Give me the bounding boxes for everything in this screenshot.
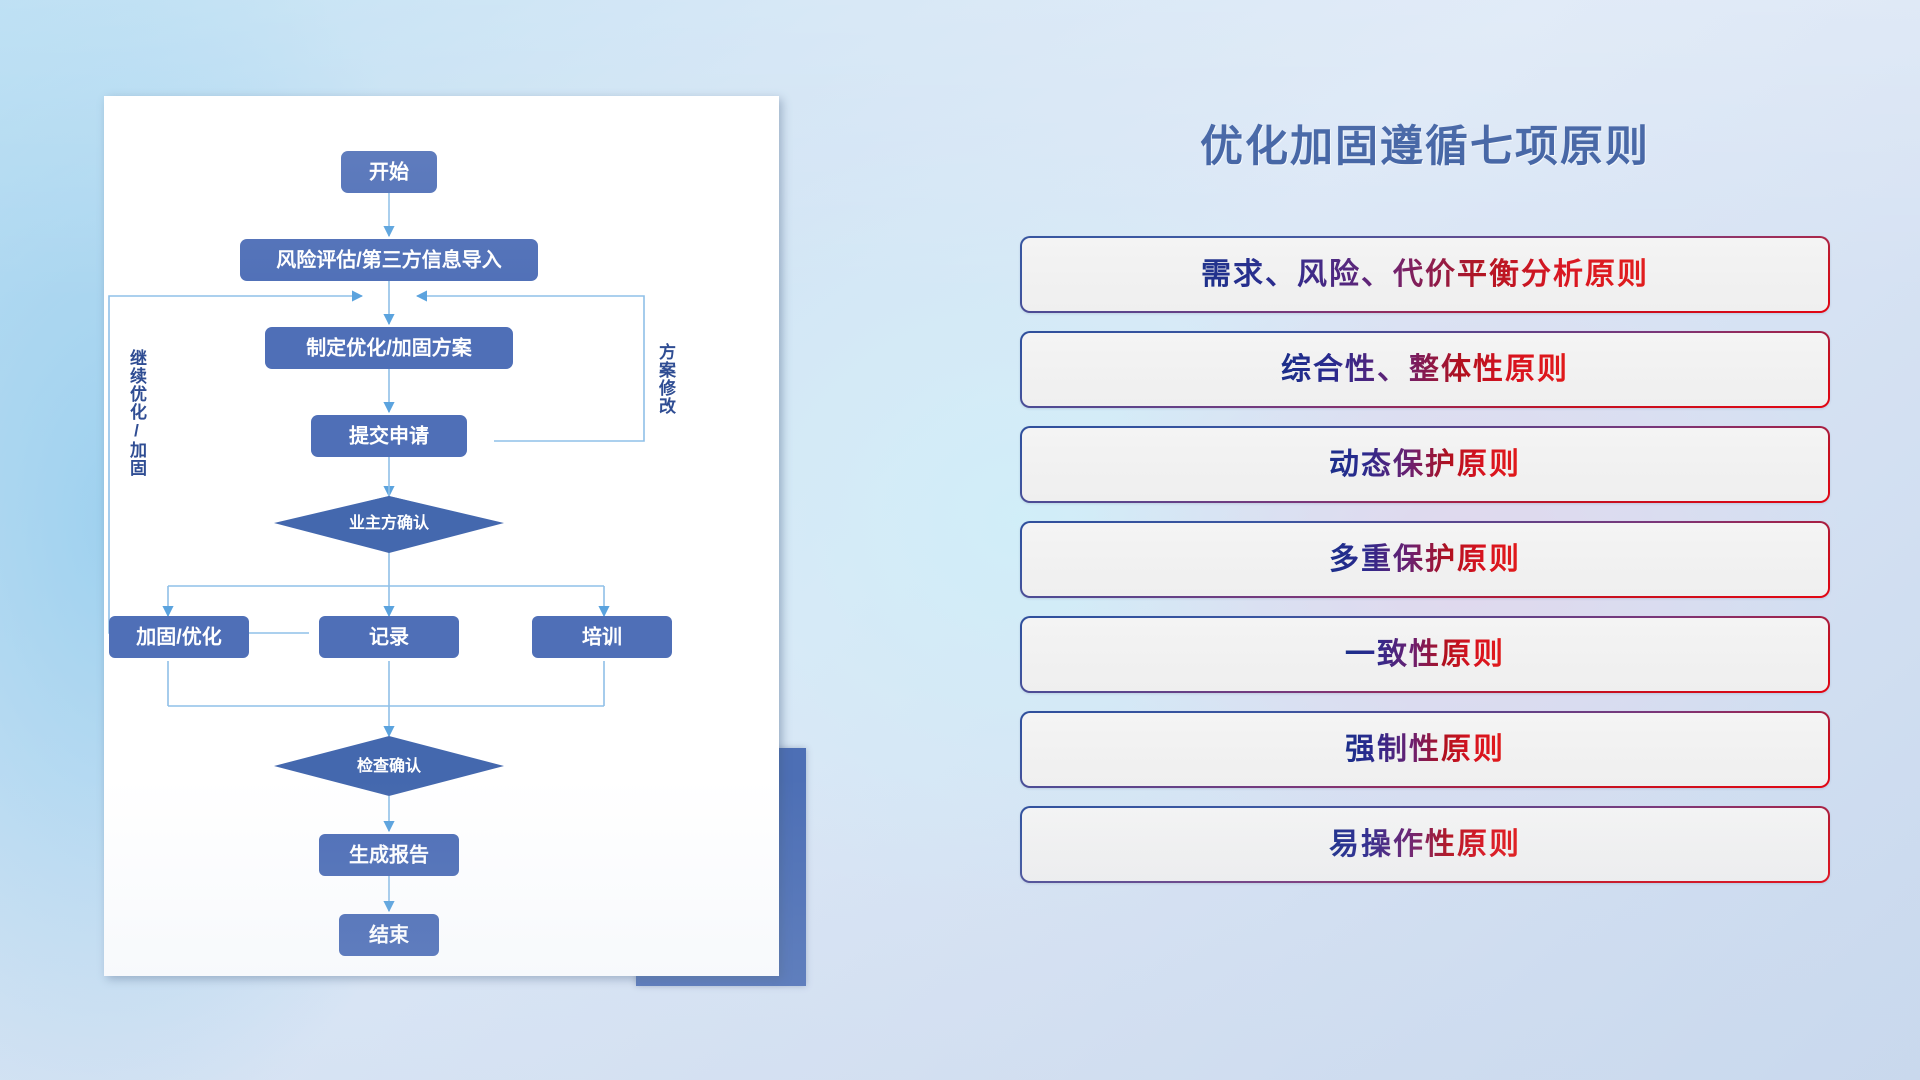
node-submit-label: 提交申请: [349, 423, 429, 447]
principle-label: 需求、风险、代价平衡分析原则: [1201, 258, 1649, 291]
node-report[interactable]: 生成报告: [319, 834, 459, 876]
node-record-label: 记录: [369, 625, 409, 648]
principle-item[interactable]: 一致性原则: [1020, 616, 1830, 693]
principle-label: 多重保护原则: [1329, 543, 1521, 576]
node-report-label: 生成报告: [349, 842, 429, 866]
node-submit[interactable]: 提交申请: [311, 415, 467, 457]
node-end[interactable]: 结束: [339, 914, 439, 956]
principles-panel: 优化加固遵循七项原则 需求、风险、代价平衡分析原则 综合性、整体性原则 动态保护…: [1020, 96, 1830, 986]
principle-label: 易操作性原则: [1329, 828, 1521, 861]
slide-background: 开始 风险评估/第三方信息导入 制定优化/加固方案 提交申请 业主方确认: [0, 0, 1920, 1080]
principle-item[interactable]: 需求、风险、代价平衡分析原则: [1020, 236, 1830, 313]
node-plan[interactable]: 制定优化/加固方案: [265, 327, 513, 369]
principle-item[interactable]: 多重保护原则: [1020, 521, 1830, 598]
principle-item[interactable]: 综合性、整体性原则: [1020, 331, 1830, 408]
node-plan-label: 制定优化/加固方案: [306, 335, 473, 359]
node-check-label: 检查确认: [357, 756, 422, 775]
principle-item[interactable]: 强制性原则: [1020, 711, 1830, 788]
principle-label: 强制性原则: [1345, 733, 1505, 766]
node-approve-label: 业主方确认: [349, 513, 430, 532]
principle-label: 一致性原则: [1345, 638, 1505, 671]
node-record[interactable]: 记录: [319, 616, 459, 658]
principle-item[interactable]: 动态保护原则: [1020, 426, 1830, 503]
node-start[interactable]: 开始: [341, 151, 437, 193]
principle-label: 动态保护原则: [1329, 448, 1521, 481]
flowchart-card: 开始 风险评估/第三方信息导入 制定优化/加固方案 提交申请 业主方确认: [104, 96, 779, 976]
panel-title: 优化加固遵循七项原则: [1020, 112, 1830, 174]
node-start-label: 开始: [369, 159, 409, 183]
node-approve[interactable]: 业主方确认: [274, 496, 504, 553]
node-end-label: 结束: [369, 922, 410, 946]
flowchart-diagram: 开始 风险评估/第三方信息导入 制定优化/加固方案 提交申请 业主方确认: [104, 96, 779, 976]
node-check[interactable]: 检查确认: [274, 736, 504, 796]
principle-item[interactable]: 易操作性原则: [1020, 806, 1830, 883]
node-reinforce-label: 加固/优化: [135, 624, 222, 648]
principle-label: 综合性、整体性原则: [1281, 353, 1569, 386]
node-assess[interactable]: 风险评估/第三方信息导入: [240, 239, 538, 281]
node-assess-label: 风险评估/第三方信息导入: [276, 247, 502, 271]
principles-list: 需求、风险、代价平衡分析原则 综合性、整体性原则 动态保护原则 多重保护原则 一…: [1020, 236, 1830, 901]
node-reinforce[interactable]: 加固/优化: [109, 616, 249, 658]
node-train-label: 培训: [582, 624, 622, 648]
edge-label-right-loop: 方案修改: [657, 343, 674, 415]
node-train[interactable]: 培训: [532, 616, 672, 658]
edge-label-left-loop: 继续优化/加固: [128, 349, 145, 477]
